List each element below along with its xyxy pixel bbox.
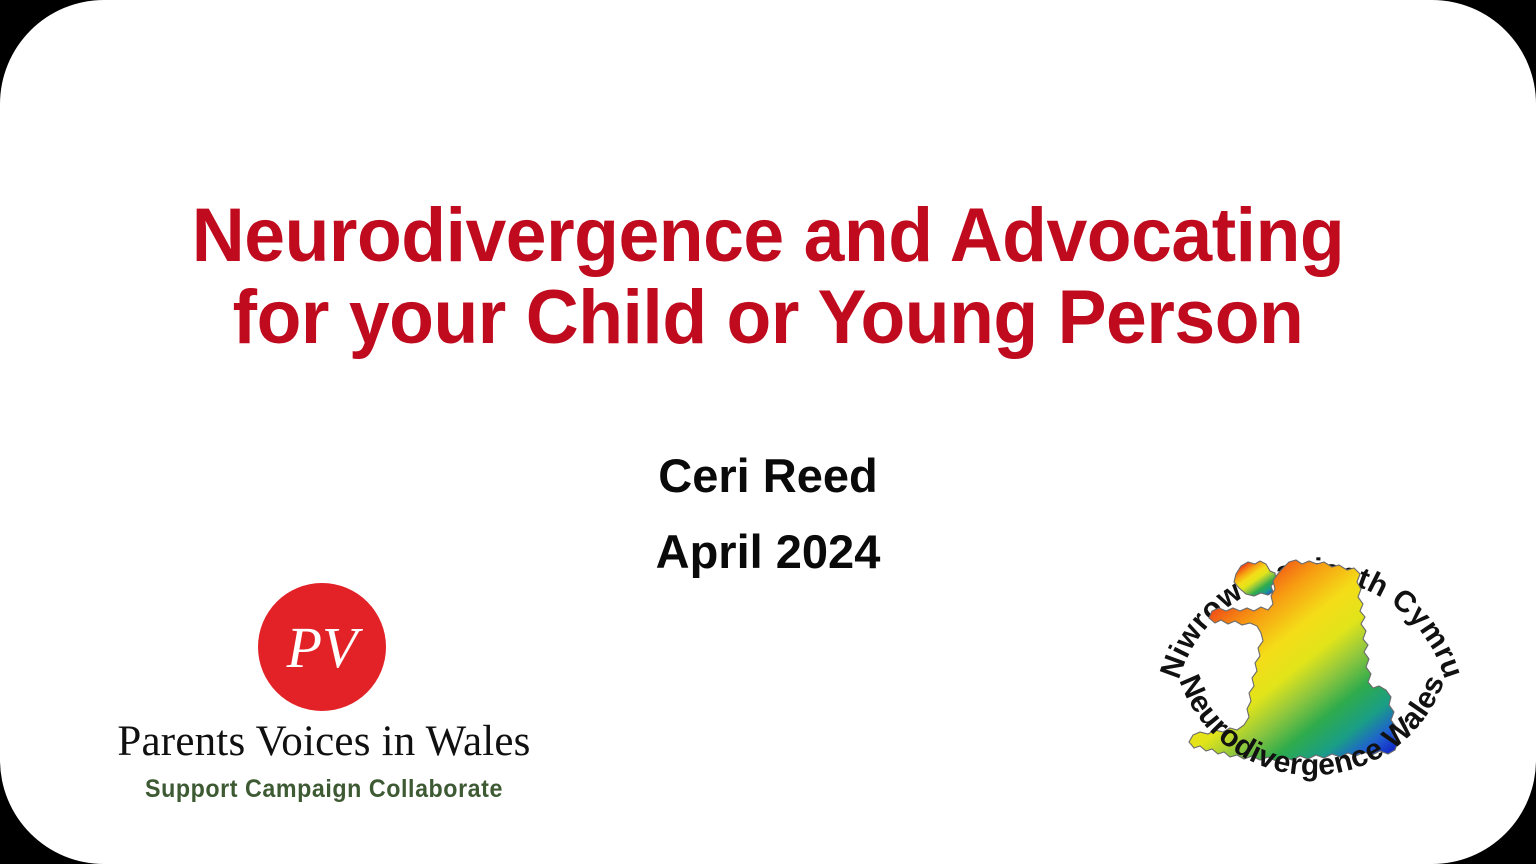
pv-monogram-icon: PV [258, 583, 386, 711]
neurodivergence-wales-logo: Niwrowahaniaeth Cymru Neurodivergence Wa… [1142, 498, 1482, 838]
pvw-circle-mark: PV [258, 583, 386, 711]
pvw-organisation-name: Parents Voices in Wales [96, 717, 552, 766]
page-title: Neurodivergence and Advocating for your … [0, 198, 1536, 356]
ndw-logo-graphic: Niwrowahaniaeth Cymru Neurodivergence Wa… [1142, 498, 1482, 838]
presentation-slide: Neurodivergence and Advocating for your … [0, 0, 1536, 864]
presenter-name: Ceri Reed [383, 452, 1153, 499]
presenter-block: Ceri Reed April 2024 [383, 452, 1153, 575]
parents-voices-in-wales-logo: PV Parents Voices in Wales Support Campa… [96, 583, 552, 815]
title-line-2: for your Child or Young Person [27, 280, 1509, 356]
pv-monogram-text: PV [286, 615, 364, 680]
title-line-1: Neurodivergence and Advocating [27, 198, 1509, 274]
presentation-date: April 2024 [383, 528, 1153, 575]
pvw-tagline: Support Campaign Collaborate [112, 775, 536, 804]
